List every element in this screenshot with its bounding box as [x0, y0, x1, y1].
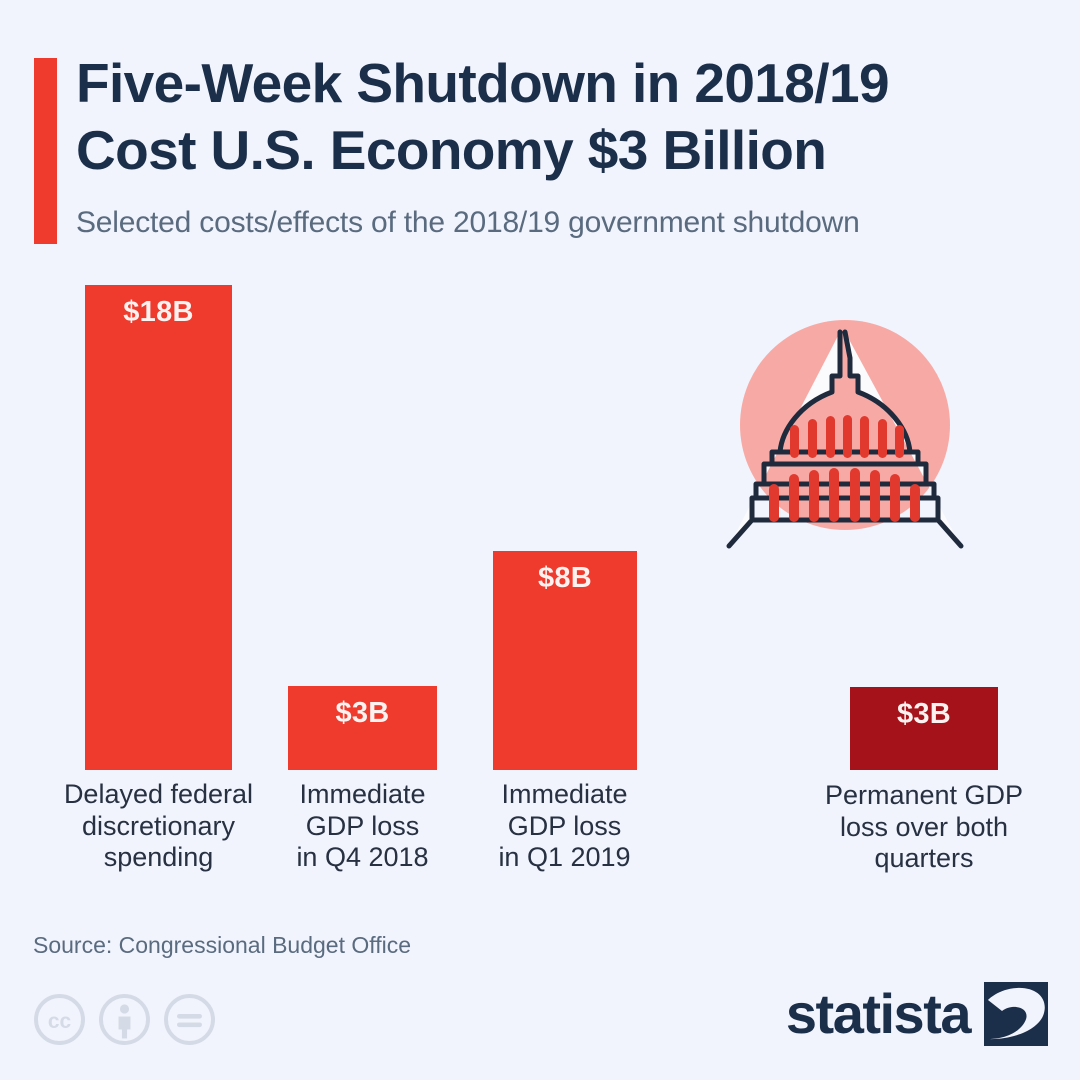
bar-category-label-4: Permanent GDP loss over both quarters: [808, 780, 1040, 875]
bar-category-label-2: Immediate GDP loss in Q4 2018: [254, 779, 471, 874]
capitol-building-illustration: [722, 306, 972, 556]
bar-label-line-1: Delayed federal: [50, 779, 267, 811]
bar-label-line-3: in Q4 2018: [254, 842, 471, 874]
bar-rect[interactable]: [85, 285, 232, 770]
bar-value-label: $18B: [85, 296, 232, 329]
creative-commons-license[interactable]: cc: [33, 993, 216, 1046]
bar-group-delayed-federal-discretionary-spending[interactable]: $18B: [85, 285, 232, 770]
bar-label-line-2: discretionary: [50, 811, 267, 843]
cc-nd-equals-icon[interactable]: [163, 993, 216, 1046]
title-line-2: Cost U.S. Economy $3 Billion: [76, 117, 1066, 184]
cc-icon[interactable]: cc: [33, 993, 86, 1046]
bar-value-label: $3B: [288, 697, 437, 730]
page-title: Five-Week Shutdown in 2018/19 Cost U.S. …: [76, 50, 1066, 184]
bar-label-line-1: Immediate: [456, 779, 673, 811]
bar-label-line-3: in Q1 2019: [456, 842, 673, 874]
statista-logo[interactable]: statista: [786, 982, 1048, 1046]
bar-label-line-1: Permanent GDP: [808, 780, 1040, 812]
title-accent-bar: [34, 58, 57, 244]
bar-label-line-3: quarters: [808, 843, 1040, 875]
infographic-canvas: Five-Week Shutdown in 2018/19 Cost U.S. …: [0, 0, 1080, 1080]
bar-label-line-2: GDP loss: [456, 811, 673, 843]
bar-category-label-1: Delayed federal discretionary spending: [50, 779, 267, 874]
page-subtitle: Selected costs/effects of the 2018/19 go…: [76, 206, 860, 240]
statista-mark-icon: [984, 982, 1048, 1046]
bar-value-label: $3B: [850, 698, 998, 731]
bar-group-permanent-gdp-loss-both-quarters[interactable]: $3B: [850, 687, 998, 770]
bar-category-label-3: Immediate GDP loss in Q1 2019: [456, 779, 673, 874]
bar-value-label: $8B: [493, 562, 637, 595]
bar-label-line-1: Immediate: [254, 779, 471, 811]
cc-by-person-icon[interactable]: [98, 993, 151, 1046]
bar-label-line-2: loss over both: [808, 812, 1040, 844]
bar-group-immediate-gdp-loss-q4-2018[interactable]: $3B: [288, 686, 437, 770]
statista-wordmark: statista: [786, 986, 970, 1042]
svg-text:cc: cc: [48, 1010, 72, 1033]
bar-label-line-2: GDP loss: [254, 811, 471, 843]
source-note: Source: Congressional Budget Office: [33, 932, 411, 959]
capitol-svg: [722, 306, 972, 556]
title-line-1: Five-Week Shutdown in 2018/19: [76, 50, 1066, 117]
bar-group-immediate-gdp-loss-q1-2019[interactable]: $8B: [493, 551, 637, 770]
bar-label-line-3: spending: [50, 842, 267, 874]
